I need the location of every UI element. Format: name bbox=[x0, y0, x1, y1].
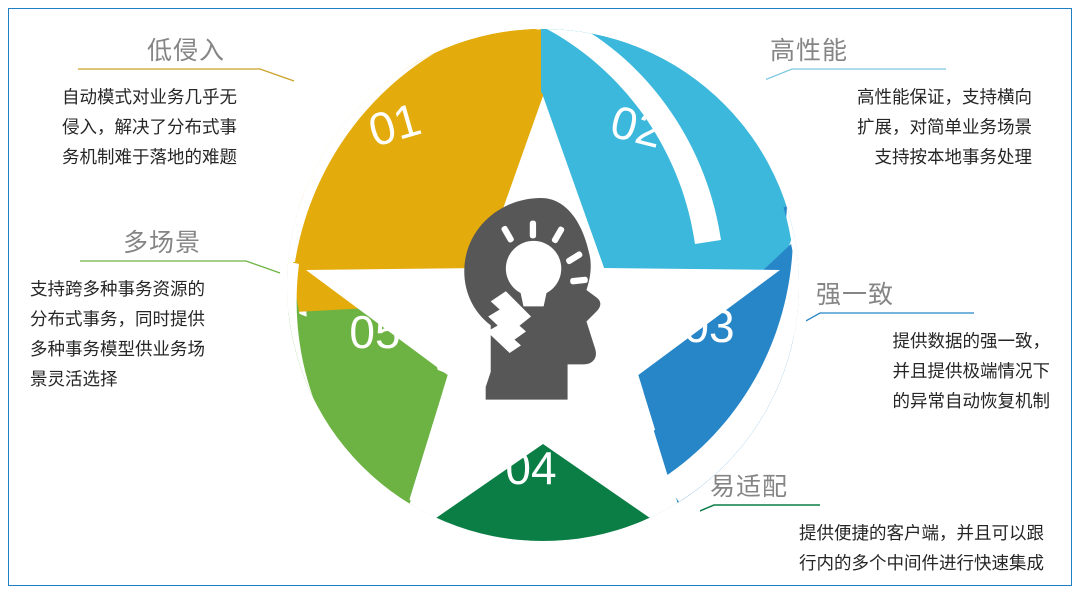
callout-heading-01: 低侵入 bbox=[48, 36, 310, 66]
callout-body-02: 高性能保证，支持横向 扩展，对简单业务场景 支持按本地事务处理 bbox=[766, 82, 1038, 172]
connector-line-05 bbox=[18, 258, 286, 274]
ray-1 bbox=[530, 221, 536, 239]
callout-line: 的异常自动恢复机制 bbox=[806, 386, 1050, 416]
callout-line: 提供便捷的客户端，并且可以跟 bbox=[700, 518, 1044, 548]
callout-line: 务机制难于落地的难题 bbox=[62, 142, 310, 172]
callout-body-05: 支持跨多种事务资源的 分布式事务，同时提供 多种事务模型供业务场 景灵活选择 bbox=[18, 274, 286, 394]
infographic-canvas: 01 02 03 04 05 低侵入 自动模式对业务几乎 bbox=[0, 0, 1080, 597]
callout-body-01: 自动模式对业务几乎无 侵入，解决了分布式事 务机制难于落地的难题 bbox=[48, 82, 310, 172]
connector-line-02 bbox=[766, 66, 1038, 82]
callout-heading-03: 强一致 bbox=[806, 280, 1052, 310]
callout-line: 多种事务模型供业务场 bbox=[30, 334, 286, 364]
callout-block-01: 低侵入 自动模式对业务几乎无 侵入，解决了分布式事 务机制难于落地的难题 bbox=[48, 36, 310, 172]
callout-block-02: 高性能 高性能保证，支持横向 扩展，对简单业务场景 支持按本地事务处理 bbox=[766, 36, 1038, 172]
segment-number-04: 04 bbox=[505, 442, 556, 494]
connector-line-03 bbox=[806, 310, 1052, 326]
callout-block-04: 易适配 提供便捷的客户端，并且可以跟 行内的多个中间件进行快速集成 bbox=[700, 472, 1048, 578]
callout-body-03: 提供数据的强一致， 并且提供极端情况下 的异常自动恢复机制 bbox=[806, 326, 1052, 416]
callout-block-03: 强一致 提供数据的强一致， 并且提供极端情况下 的异常自动恢复机制 bbox=[806, 280, 1052, 416]
callout-heading-04: 易适配 bbox=[700, 472, 1048, 502]
callout-line: 支持跨多种事务资源的 bbox=[30, 274, 286, 304]
callout-line: 高性能保证，支持横向 bbox=[766, 82, 1032, 112]
connector-line-04 bbox=[700, 502, 1048, 518]
connector-line-01 bbox=[48, 66, 310, 82]
callout-block-05: 多场景 支持跨多种事务资源的 分布式事务，同时提供 多种事务模型供业务场 景灵活… bbox=[18, 228, 286, 394]
callout-line: 扩展，对简单业务场景 bbox=[766, 112, 1032, 142]
segment-number-03: 03 bbox=[683, 300, 734, 352]
segment-number-05: 05 bbox=[349, 306, 400, 358]
callout-body-04: 提供便捷的客户端，并且可以跟 行内的多个中间件进行快速集成 bbox=[700, 518, 1048, 578]
callout-line: 支持按本地事务处理 bbox=[766, 142, 1032, 172]
callout-heading-05: 多场景 bbox=[18, 228, 286, 258]
callout-line: 侵入，解决了分布式事 bbox=[62, 112, 310, 142]
callout-line: 提供数据的强一致， bbox=[806, 326, 1050, 356]
bulb-glass bbox=[506, 241, 561, 296]
callout-line: 景灵活选择 bbox=[30, 364, 286, 394]
bulb-neck bbox=[520, 289, 548, 307]
callout-line: 分布式事务，同时提供 bbox=[30, 304, 286, 334]
callout-line: 行内的多个中间件进行快速集成 bbox=[700, 548, 1044, 578]
callout-line: 自动模式对业务几乎无 bbox=[62, 82, 310, 112]
callout-heading-02: 高性能 bbox=[766, 36, 1038, 66]
callout-line: 并且提供极端情况下 bbox=[806, 356, 1050, 386]
